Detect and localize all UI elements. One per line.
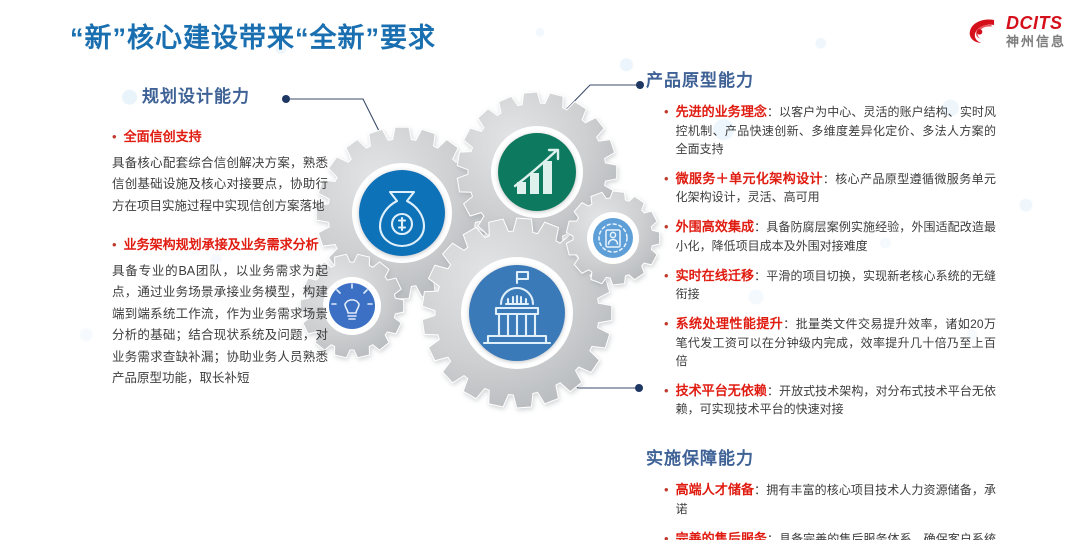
- logo-brand-en: DCITS: [1006, 14, 1066, 32]
- bullet-marker: •: [112, 235, 117, 255]
- bullet-sep: ：: [823, 172, 835, 186]
- bullet-marker: •: [664, 217, 669, 255]
- connector-top-right: [531, 81, 644, 146]
- list-item: • 外围高效集成：具备防腐层案例实施经验，外围适配改造最小化，降低项目成本及外围…: [664, 217, 996, 255]
- money-bag-icon: [380, 192, 424, 246]
- bullet-sep: ：: [767, 384, 779, 398]
- left-bullet-2: • 业务架构规划承接及业务需求分析: [112, 235, 328, 255]
- gear-growth-chart: [457, 92, 616, 252]
- list-item: • 高端人才储备：拥有丰富的核心项目技术人力资源储备，承诺: [664, 480, 996, 518]
- left-bullet-1-body: 具备核心配套综合信创解决方案，熟悉信创基础设施及核心对接要点，协助行方在项目实施…: [112, 153, 328, 218]
- slide-canvas: “新”核心建设带来“全新”要求 DCITS 神州信息: [0, 0, 1080, 540]
- bullet-key: 技术平台无依赖: [676, 383, 767, 398]
- bullet-sep: ：: [754, 269, 766, 283]
- list-item: • 先进的业务理念：以客户为中心、灵活的账户结构、实时风控机制、产品快速创新、多…: [664, 102, 996, 158]
- bullet-marker: •: [664, 480, 669, 518]
- bullet-sep: ：: [767, 105, 779, 119]
- bullet-key: 完善的售后服务: [676, 531, 767, 540]
- product-prototype-bullets: • 先进的业务理念：以客户为中心、灵活的账户结构、实时风控机制、产品快速创新、多…: [646, 102, 996, 418]
- connector-bottom-right: [546, 356, 643, 392]
- bullet-key: 高端人才储备: [676, 482, 755, 497]
- logo-brand-cn: 神州信息: [1006, 35, 1066, 48]
- bullet-key: 先进的业务理念: [676, 104, 767, 119]
- bullet-marker: •: [112, 127, 117, 147]
- bullet-marker: •: [664, 529, 669, 540]
- right-column: 产品原型能力 • 先进的业务理念：以客户为中心、灵活的账户结构、实时风控机制、产…: [646, 66, 996, 540]
- bullet-sep: ：: [783, 317, 795, 331]
- bullet-sep: ：: [767, 532, 779, 540]
- implementation-bullets: • 高端人才储备：拥有丰富的核心项目技术人力资源储备，承诺 • 完善的售后服务：…: [646, 480, 996, 540]
- gear-bank-building: [422, 218, 611, 408]
- section-heading-planning: 规划设计能力: [142, 82, 328, 107]
- list-item: • 微服务＋单元化架构设计：核心产品原型遵循微服务单元化架构设计，灵活、高可用: [664, 169, 996, 207]
- list-item: • 技术平台无依赖：开放式技术架构，对分布式技术平台无依赖，可实现技术平台的快速…: [664, 381, 996, 419]
- bullet-key: 外围高效集成: [676, 219, 755, 234]
- growth-chart-icon: [515, 150, 558, 194]
- left-bullet-1-title: 全面信创支持: [124, 127, 328, 147]
- id-badge-person-icon: [599, 224, 627, 252]
- list-item: • 实时在线迁移：平滑的项目切换，实现新老核心系统的无缝衔接: [664, 266, 996, 304]
- brand-logo: DCITS 神州信息: [966, 14, 1066, 48]
- gear-money-bag: [316, 127, 487, 298]
- left-bullet-2-title: 业务架构规划承接及业务需求分析: [124, 235, 328, 255]
- list-item: • 系统处理性能提升：批量类文件交易提升效率，诸如20万笔代发工资可以在分钟级内…: [664, 314, 996, 370]
- left-column: 规划设计能力 • 全面信创支持 具备核心配套综合信创解决方案，熟悉信创基础设施及…: [112, 82, 328, 390]
- left-bullet-2-body: 具备专业的BA团队，以业务需求为起点，通过业务场景承接业务模型，构建端到端系统工…: [112, 261, 328, 390]
- page-title: “新”核心建设带来“全新”要求: [70, 16, 436, 55]
- list-item: • 完善的售后服务：具备完善的售后服务体系，确保客户系统的稳定运行: [664, 529, 996, 540]
- lightbulb-icon: [332, 284, 372, 319]
- bullet-marker: •: [664, 169, 669, 207]
- bullet-key: 实时在线迁移: [676, 268, 755, 283]
- bullet-key: 微服务＋单元化架构设计: [676, 171, 823, 186]
- swoosh-icon: [966, 14, 1000, 48]
- bullet-sep: ：: [754, 220, 766, 234]
- section-heading-implementation: 实施保障能力: [646, 444, 996, 469]
- bullet-marker: •: [664, 314, 669, 370]
- bullet-marker: •: [664, 266, 669, 304]
- bank-building-icon: [484, 272, 550, 343]
- section-heading-product-prototype: 产品原型能力: [646, 66, 996, 91]
- bullet-sep: ：: [754, 483, 766, 497]
- bullet-marker: •: [664, 381, 669, 419]
- bullet-marker: •: [664, 102, 669, 158]
- bullet-key: 系统处理性能提升: [676, 316, 784, 331]
- left-bullet-1: • 全面信创支持: [112, 127, 328, 147]
